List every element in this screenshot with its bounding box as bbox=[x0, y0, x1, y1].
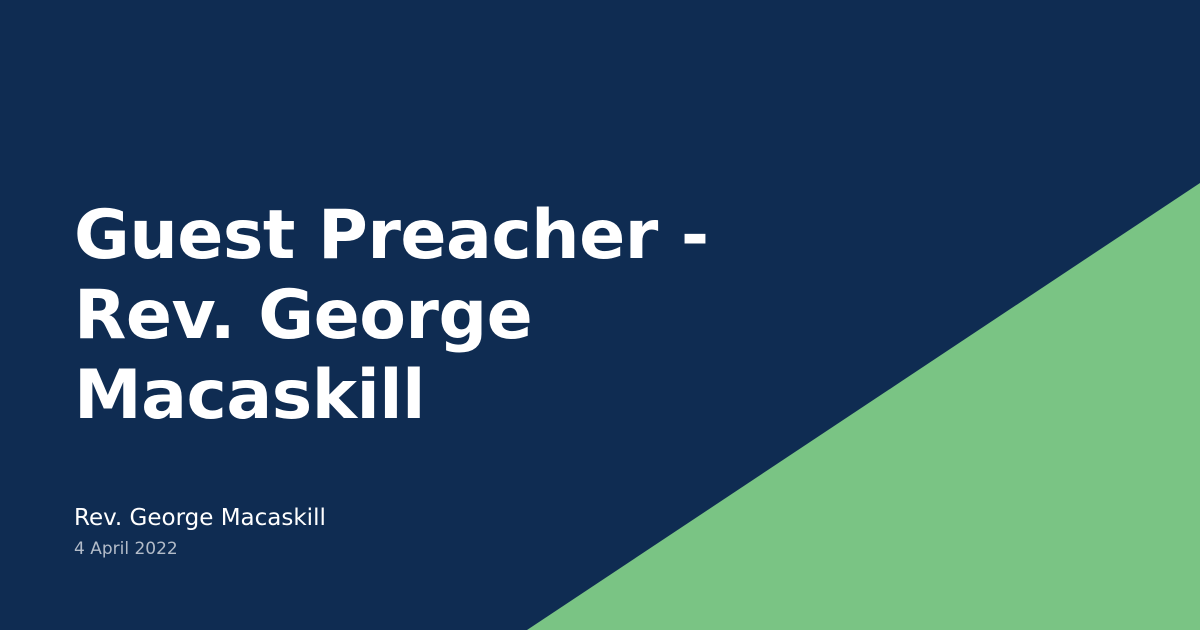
slide-content: Guest Preacher - Rev. George Macaskill R… bbox=[0, 0, 1200, 630]
title-slide: Guest Preacher - Rev. George Macaskill R… bbox=[0, 0, 1200, 630]
slide-metadata: Rev. George Macaskill 4 April 2022 bbox=[74, 503, 774, 560]
publish-date: 4 April 2022 bbox=[74, 538, 774, 560]
author-name: Rev. George Macaskill bbox=[74, 503, 774, 533]
page-title: Guest Preacher - Rev. George Macaskill bbox=[74, 196, 864, 436]
